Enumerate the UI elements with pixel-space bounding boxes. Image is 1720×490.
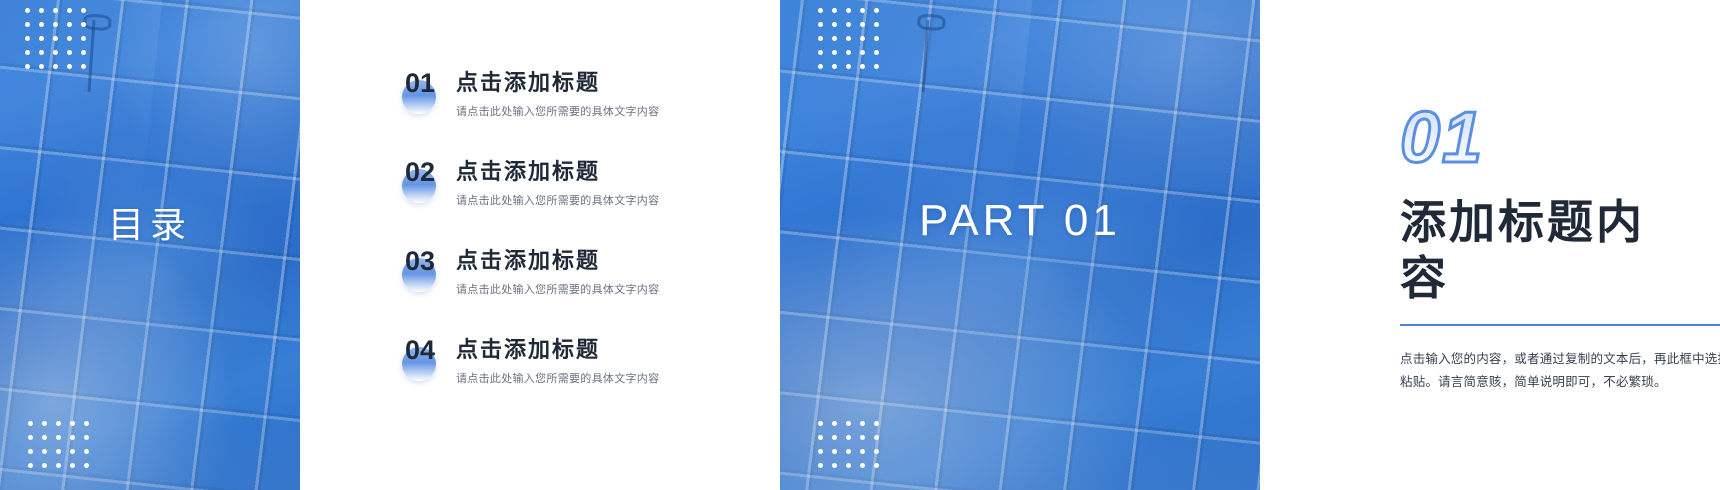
list-item-text: 点击添加标题 请点击此处输入您所需要的具体文字内容 <box>456 333 659 387</box>
agenda-list: 01 点击添加标题 请点击此处输入您所需要的具体文字内容 02 点击添加标题 请… <box>300 66 780 387</box>
list-item-subtitle: 请点击此处输入您所需要的具体文字内容 <box>456 283 659 298</box>
list-item-number-badge: 03 <box>392 244 448 292</box>
section-title: 添加标题内容 <box>1400 194 1660 306</box>
list-item-text: 点击添加标题 请点击此处输入您所需要的具体文字内容 <box>456 155 659 209</box>
toc-title: 目录 <box>0 196 300 248</box>
section-body-text: 点击输入您的内容，或者通过复制的文本后，再此框中选择粘贴。请言简意赅，简单说明即… <box>1400 348 1720 394</box>
dot-pattern-top-icon <box>818 8 879 69</box>
slide-deck: 目录 01 点击添加标题 请点击此处输入您所需要的具体文字内容 02 <box>0 0 1720 490</box>
list-item[interactable]: 04 点击添加标题 请点击此处输入您所需要的具体文字内容 <box>300 333 780 387</box>
list-item-number: 03 <box>392 244 448 278</box>
part-label: PART 01 <box>780 196 1260 246</box>
list-item-number: 02 <box>392 155 448 189</box>
content-block: 01 添加标题内容 点击输入您的内容，或者通过复制的文本后，再此框中选择粘贴。请… <box>1400 100 1660 394</box>
list-item-number: 01 <box>392 66 448 100</box>
list-item-number: 04 <box>392 333 448 367</box>
slide-agenda-list: 01 点击添加标题 请点击此处输入您所需要的具体文字内容 02 点击添加标题 请… <box>300 0 780 490</box>
list-item[interactable]: 01 点击添加标题 请点击此处输入您所需要的具体文字内容 <box>300 66 780 120</box>
slide-section-content: 01 添加标题内容 点击输入您的内容，或者通过复制的文本后，再此框中选择粘贴。请… <box>1260 0 1720 490</box>
list-item-subtitle: 请点击此处输入您所需要的具体文字内容 <box>456 105 659 120</box>
list-item[interactable]: 02 点击添加标题 请点击此处输入您所需要的具体文字内容 <box>300 155 780 209</box>
title-underline-divider <box>1400 324 1720 326</box>
list-item[interactable]: 03 点击添加标题 请点击此处输入您所需要的具体文字内容 <box>300 244 780 298</box>
list-item-title: 点击添加标题 <box>456 246 659 276</box>
list-item-number-badge: 02 <box>392 155 448 203</box>
section-number: 01 <box>1400 100 1660 176</box>
list-item-subtitle: 请点击此处输入您所需要的具体文字内容 <box>456 372 659 387</box>
list-item-subtitle: 请点击此处输入您所需要的具体文字内容 <box>456 194 659 209</box>
dot-pattern-top-icon <box>25 8 86 69</box>
list-item-number-badge: 04 <box>392 333 448 381</box>
list-item-text: 点击添加标题 请点击此处输入您所需要的具体文字内容 <box>456 66 659 120</box>
list-item-number-badge: 01 <box>392 66 448 114</box>
slide-part-divider: PART 01 <box>780 0 1260 490</box>
list-item-text: 点击添加标题 请点击此处输入您所需要的具体文字内容 <box>456 244 659 298</box>
list-item-title: 点击添加标题 <box>456 68 659 98</box>
dot-pattern-bottom-icon <box>818 421 879 468</box>
list-item-title: 点击添加标题 <box>456 335 659 365</box>
list-item-title: 点击添加标题 <box>456 157 659 187</box>
slide-table-of-contents: 目录 <box>0 0 300 490</box>
dot-pattern-bottom-icon <box>28 421 89 468</box>
